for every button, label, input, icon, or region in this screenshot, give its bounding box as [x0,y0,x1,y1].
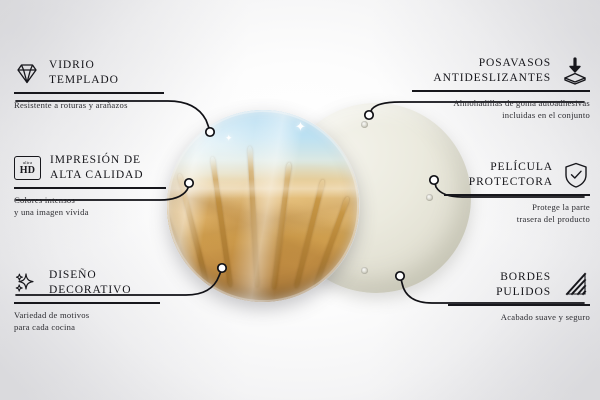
connector-endpoint-impresion [185,179,193,187]
feature-title: DISEÑO DECORATIVO [49,268,131,298]
feature-diseno-decorativo: DISEÑO DECORATIVO Variedad de motivos pa… [14,268,160,333]
diamond-icon [14,61,40,85]
feature-title: IMPRESIÓN DE ALTA CALIDAD [50,153,143,183]
connector-endpoint-diseno [218,264,226,272]
feature-description: Resistente a roturas y arañazos [14,99,164,111]
ultra-hd-icon: ultra HD [14,156,41,180]
divider [14,187,166,189]
divider [14,302,160,304]
divider [448,304,590,306]
connector-endpoint-posavasos [365,111,373,119]
divider [412,90,590,92]
feature-description: Variedad de motivos para cada cocina [14,309,160,333]
connector-endpoint-bordes [396,272,404,280]
feature-pelicula-protectora: PELÍCULA PROTECTORA Protege la parte tra… [444,160,590,225]
divider [444,194,590,196]
feature-description: Acabado suave y seguro [448,311,590,323]
shield-check-icon [562,161,590,189]
feature-title: VIDRIO TEMPLADO [49,58,119,88]
connector-endpoint-vidrio-templado [206,128,214,136]
feature-title: PELÍCULA PROTECTORA [469,160,553,190]
product-infographic: ✦ ✦ [0,0,600,400]
feature-description: Protege la parte trasera del producto [444,201,590,225]
polished-edge-icon [560,272,590,298]
ultra-hd-icon-bottom-text: HD [20,166,36,176]
arrow-down-pad-icon [560,56,590,86]
feature-posavasos-antideslizantes: POSAVASOS ANTIDESLIZANTES Almohadillas d… [412,56,590,121]
divider [14,92,164,94]
feature-title: POSAVASOS ANTIDESLIZANTES [433,56,551,86]
feature-title: BORDES PULIDOS [496,270,551,300]
connector-endpoint-pelicula [430,176,438,184]
feature-description: Colores intensos y una imagen vívida [14,194,166,218]
feature-bordes-pulidos: BORDES PULIDOS Acabado suave y seguro [448,270,590,323]
sparkles-icon [14,271,40,295]
feature-vidrio-templado: VIDRIO TEMPLADO Resistente a roturas y a… [14,58,164,111]
feature-description: Almohadillas de goma autoadhesivas inclu… [412,97,590,121]
feature-impresion-alta-calidad: ultra HD IMPRESIÓN DE ALTA CALIDAD Color… [14,153,166,218]
